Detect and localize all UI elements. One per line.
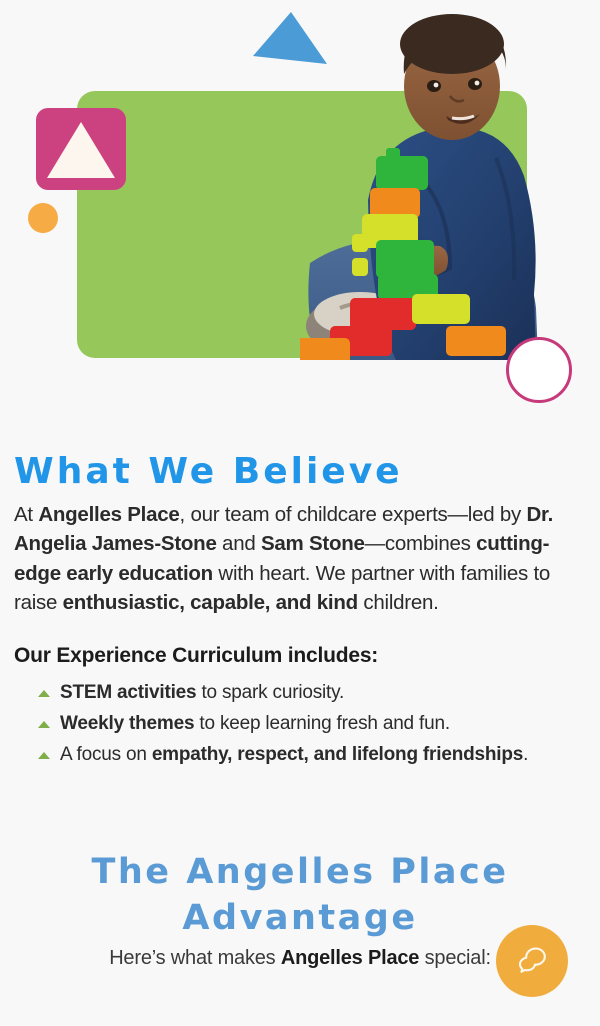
hero-section: [0, 0, 600, 430]
triangle-bullet-icon: [38, 690, 50, 697]
curriculum-list-item-text: STEM activities to spark curiosity.: [60, 682, 344, 703]
chat-widget-button[interactable]: [496, 925, 568, 997]
triangle-bullet-icon: [38, 721, 50, 728]
content-section: What We Believe At Angelles Place, our t…: [0, 452, 600, 970]
cream-triangle-icon: [47, 122, 115, 178]
pink-square-shape: [36, 108, 126, 190]
curriculum-list-item: A focus on empathy, respect, and lifelon…: [60, 740, 586, 771]
curriculum-bullet-list: STEM activities to spark curiosity.Weekl…: [14, 678, 586, 771]
orange-dot-shape: [28, 203, 58, 233]
chat-bubbles-icon: [513, 942, 551, 980]
triangle-bullet-icon: [38, 752, 50, 759]
child-playing-photo: [300, 8, 560, 360]
advantage-heading: The Angelles Place Advantage: [14, 849, 586, 941]
curriculum-list-item-text: A focus on empathy, respect, and lifelon…: [60, 744, 528, 765]
what-we-believe-heading: What We Believe: [14, 452, 586, 492]
curriculum-list-item: Weekly themes to keep learning fresh and…: [60, 709, 586, 740]
curriculum-list-item: STEM activities to spark curiosity.: [60, 678, 586, 709]
what-we-believe-paragraph: At Angelles Place, our team of childcare…: [14, 500, 586, 616]
pink-ring-shape: [506, 337, 572, 403]
curriculum-list-item-text: Weekly themes to keep learning fresh and…: [60, 713, 450, 734]
curriculum-subhead: Our Experience Curriculum includes:: [14, 644, 586, 668]
